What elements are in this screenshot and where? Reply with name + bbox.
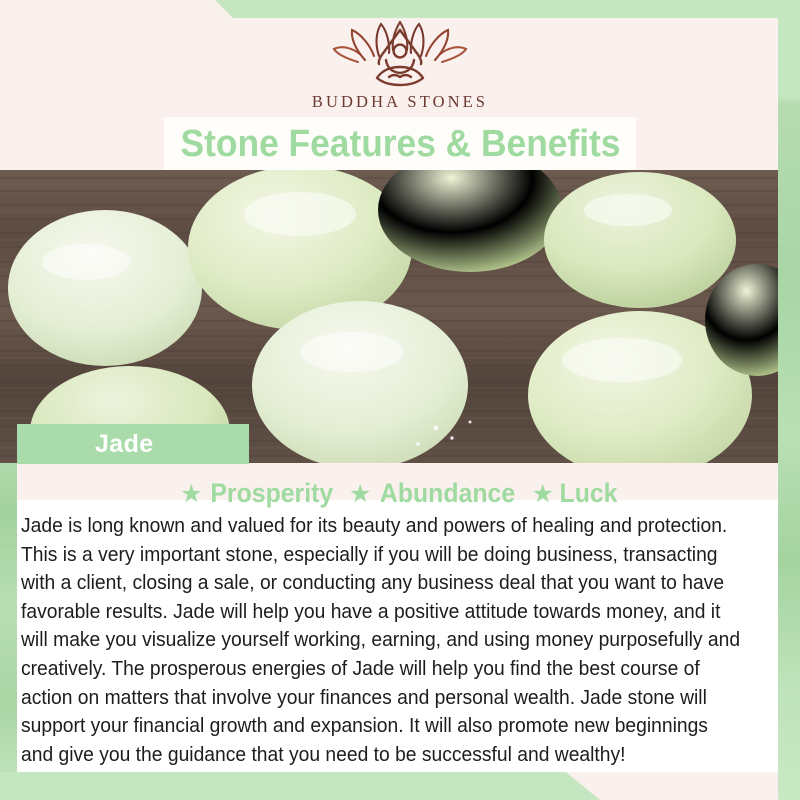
decor-top-green-band: [215, 0, 800, 18]
keyword-abundance: Abundance: [380, 478, 515, 509]
description-panel: Jade is long known and valued for its be…: [17, 512, 778, 769]
star-icon: ★: [180, 479, 202, 509]
description-text: Jade is long known and valued for its be…: [21, 512, 740, 769]
stone-name: Jade: [95, 430, 154, 459]
lotus-meditation-icon: [325, 18, 475, 90]
title-banner: Stone Features & Benefits: [164, 117, 636, 172]
star-icon: ★: [531, 479, 553, 509]
stone-info-card: BUDDHA STONES Stone Features & Benefits: [0, 0, 800, 800]
brand-logo: BUDDHA STONES: [0, 18, 800, 118]
decor-bottom-green-band: [0, 772, 600, 800]
page-title: Stone Features & Benefits: [180, 123, 620, 166]
keyword-prosperity: Prosperity: [211, 478, 334, 509]
brand-wordmark: BUDDHA STONES: [312, 92, 488, 112]
decor-right-green-bar: [778, 0, 800, 800]
star-icon: ★: [349, 479, 371, 509]
keyword-row: ★Prosperity★Abundance★Luck: [0, 478, 800, 509]
keyword-luck: Luck: [559, 478, 617, 509]
stone-photo: [0, 170, 778, 463]
stone-name-band: Jade: [17, 424, 249, 464]
